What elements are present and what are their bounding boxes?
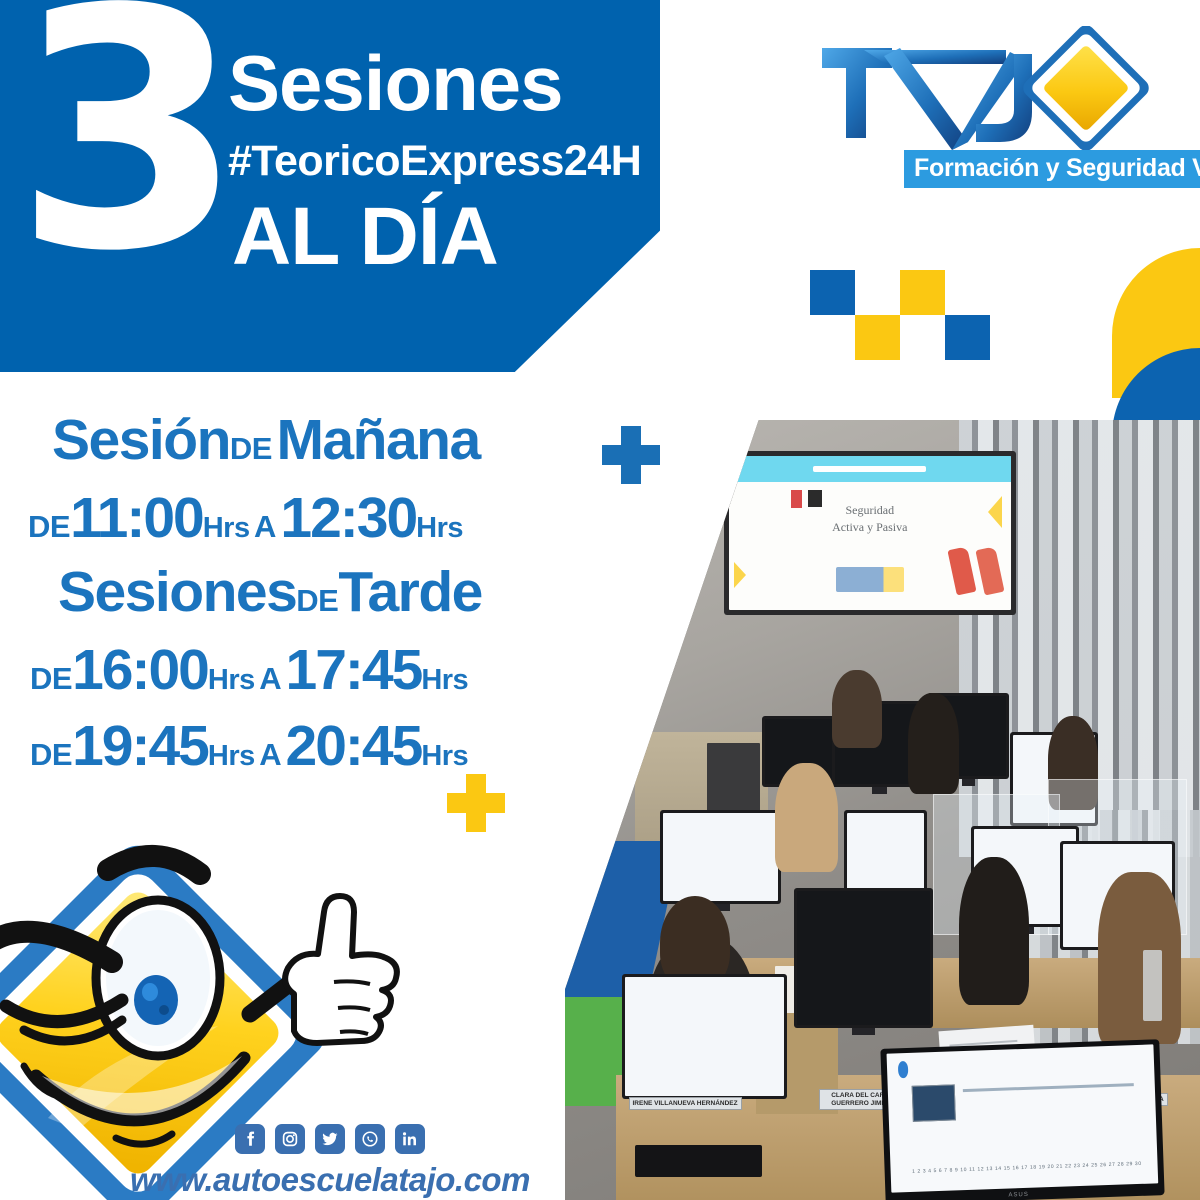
morning-title-de: DE [230, 431, 272, 466]
whatsapp-glyph [361, 1130, 379, 1148]
whiteboard-line-2: Activa y Pasiva [729, 519, 1011, 535]
photo-test-question-numbers: 1 2 3 4 5 6 7 8 9 10 11 12 13 14 15 16 1… [911, 1161, 1136, 1175]
facebook-glyph [241, 1130, 259, 1148]
deco-plus-blue [602, 426, 660, 484]
row1-hrs2: Hrs [416, 512, 463, 544]
photo-interactive-whiteboard: Seguridad Activa y Pasiva [724, 451, 1016, 615]
whiteboard-line-1: Seguridad [729, 502, 1011, 518]
deco-square-yellow-2 [900, 270, 945, 315]
photo-nametag: IRENE VILLANUEVA HERNÁNDEZ [629, 1097, 742, 1110]
photo-test-app-screen: 1 2 3 4 5 6 7 8 9 10 11 12 13 14 15 16 1… [886, 1044, 1158, 1192]
photo-student [1098, 872, 1181, 1044]
schedule-title-afternoon: SesionesDETarde [58, 564, 482, 621]
row2-to: 17:45 [286, 638, 422, 702]
photo-test-app-logo [897, 1061, 908, 1078]
classroom-photo: Seguridad Activa y Pasiva [565, 420, 1200, 1200]
photo-monitor [844, 810, 927, 896]
photo-monitor-foreground [622, 974, 787, 1099]
photo-water-bottle [1143, 950, 1162, 1020]
tajo-logo-mark [800, 26, 1190, 151]
photo-test-question-image [911, 1085, 955, 1123]
afternoon-title-de: DE [296, 583, 338, 618]
photo-student [908, 693, 959, 794]
photo-whiteboard-logo [836, 567, 904, 592]
row1-to: 12:30 [280, 486, 416, 550]
instagram-glyph [281, 1130, 299, 1148]
row2-a: A [259, 661, 281, 696]
whatsapp-icon[interactable] [355, 1124, 385, 1154]
morning-title-word-2: Mañana [276, 408, 479, 472]
photo-monitor [660, 810, 781, 904]
row3-from: 19:45 [72, 714, 208, 778]
photo-monitor [794, 888, 934, 1028]
social-links-row [0, 1124, 660, 1154]
afternoon-title-word-2: Tarde [338, 560, 482, 624]
deco-square-yellow-1 [855, 315, 900, 360]
schedule-row-afternoon-2: DE19:45Hrs A 20:45Hrs [30, 718, 468, 775]
decorative-squares [810, 270, 1020, 390]
website-url[interactable]: www.autoescuelatajo.com [0, 1161, 660, 1199]
row2-hrs1: Hrs [208, 664, 255, 696]
photo-whiteboard-screen: Seguridad Activa y Pasiva [729, 456, 1011, 610]
deco-square-blue-1 [810, 270, 855, 315]
row2-de: DE [30, 661, 72, 696]
logo-tagline: Formación y Seguridad Vial [904, 150, 1200, 188]
schedule-row-afternoon-1: DE16:00Hrs A 17:45Hrs [30, 642, 468, 699]
afternoon-title-word-1: Sesiones [58, 560, 296, 624]
photo-whiteboard-text: Seguridad Activa y Pasiva [729, 502, 1011, 534]
tajo-logo: Formación y Seguridad Vial [800, 26, 1190, 196]
schedule-row-morning-1: DE11:00Hrs A 12:30Hrs [28, 490, 463, 547]
instagram-icon[interactable] [275, 1124, 305, 1154]
photo-asus-monitor: 1 2 3 4 5 6 7 8 9 10 11 12 13 14 15 16 1… [880, 1039, 1165, 1200]
row1-de: DE [28, 509, 70, 544]
twitter-icon[interactable] [315, 1124, 345, 1154]
row2-from: 16:00 [72, 638, 208, 702]
row3-de: DE [30, 737, 72, 772]
linkedin-icon[interactable] [395, 1124, 425, 1154]
deco-square-blue-2 [945, 315, 990, 360]
twitter-glyph [321, 1130, 339, 1148]
header-al-dia-text: AL DÍA [232, 196, 498, 278]
linkedin-glyph [401, 1130, 419, 1148]
photo-whiteboard-carseat-1 [947, 547, 976, 596]
row3-hrs2: Hrs [421, 740, 468, 772]
schedule-title-morning: SesiónDE Mañana [52, 412, 480, 469]
photo-monitor-brand-label: ASUS [1008, 1192, 1029, 1199]
photo-student [832, 670, 883, 748]
sessions-count-number: 3 [14, 0, 234, 296]
row1-a: A [254, 509, 276, 544]
photo-student [959, 857, 1029, 1005]
row1-hrs1: Hrs [203, 512, 250, 544]
row3-hrs1: Hrs [208, 740, 255, 772]
footer: www.autoescuelatajo.com [0, 1124, 660, 1199]
photo-whiteboard-chevron-left [734, 562, 746, 588]
row1-from: 11:00 [70, 486, 203, 550]
row2-hrs2: Hrs [421, 664, 468, 696]
facebook-icon[interactable] [235, 1124, 265, 1154]
header-sesiones-text: Sesiones [228, 44, 563, 122]
row3-a: A [259, 737, 281, 772]
photo-whiteboard-carseat-2 [975, 547, 1004, 596]
photo-test-question-text [962, 1083, 1133, 1092]
morning-title-word-1: Sesión [52, 408, 230, 472]
photo-whiteboard-topbar [729, 456, 1011, 482]
poster-canvas: 3 Sesiones #TeoricoExpress24H AL DÍA [0, 0, 1200, 1200]
deco-plus-yellow [447, 774, 505, 832]
photo-student [775, 763, 839, 872]
row3-to: 20:45 [286, 714, 422, 778]
header-hashtag: #TeoricoExpress24H [228, 140, 641, 183]
